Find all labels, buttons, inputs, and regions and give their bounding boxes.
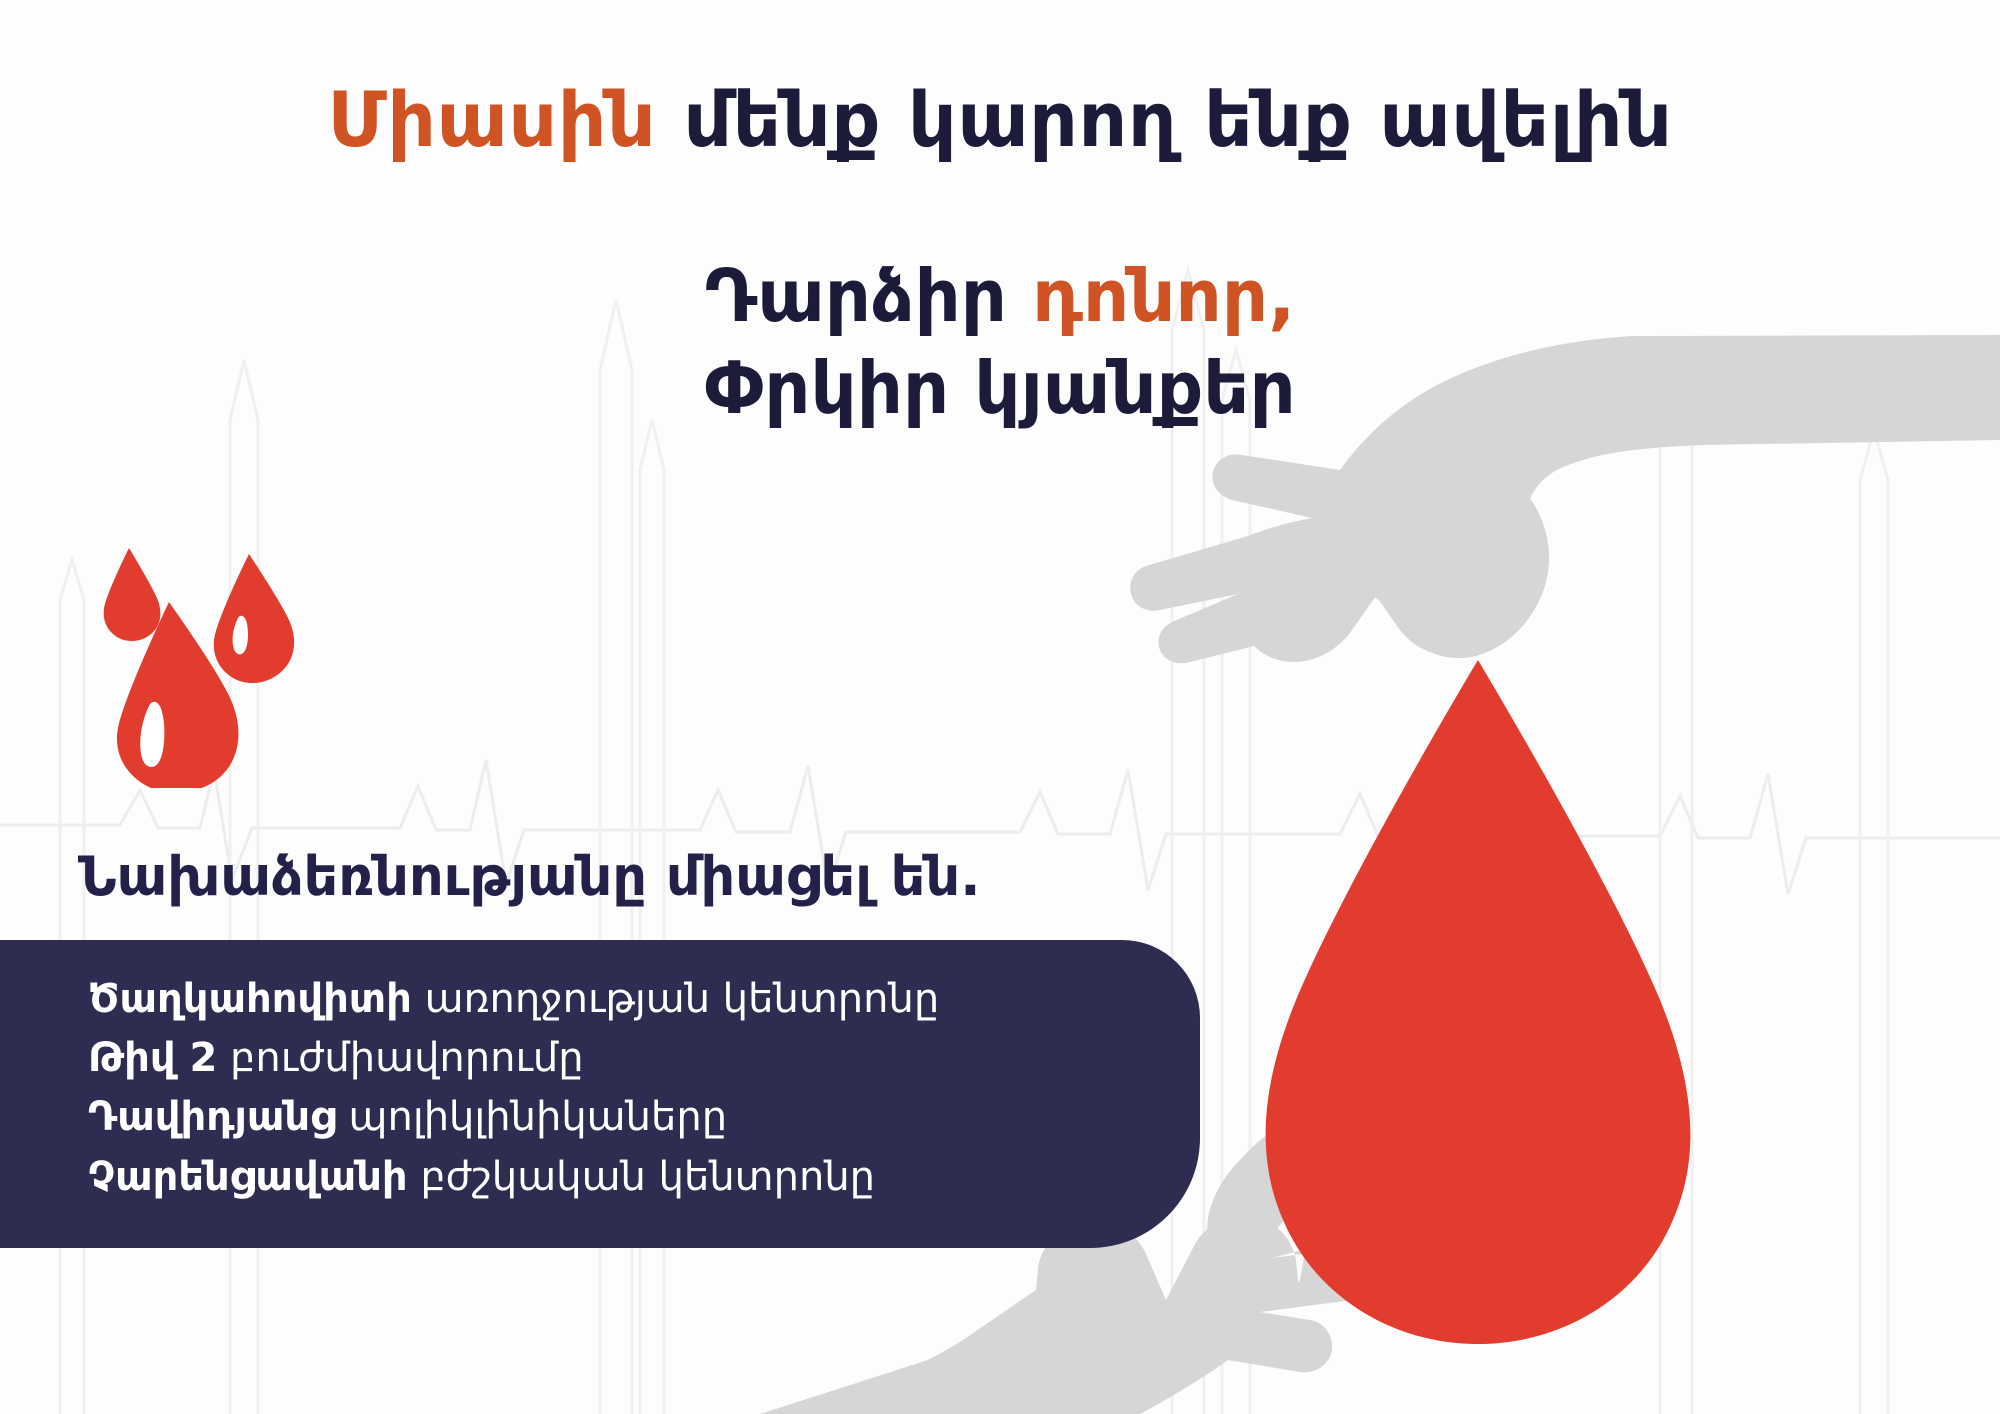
list-item-bold: Դավիդյանց bbox=[88, 1094, 336, 1140]
headline-line-2-plain: Դարձիր bbox=[705, 254, 1033, 338]
list-item: Չարենցավանի բժշկական կենտրոնը bbox=[88, 1148, 1148, 1207]
list-item-rest: բուժմիավորումը bbox=[217, 1035, 583, 1081]
headline-line-2-accent: դոնոր, bbox=[1032, 254, 1295, 338]
blood-drop-small bbox=[104, 548, 161, 641]
blood-drop-medium bbox=[214, 554, 294, 683]
headline-block: Միասին մենք կարող ենք ավելին bbox=[0, 76, 2000, 163]
blood-drop-cluster bbox=[95, 548, 315, 788]
list-item-bold: Թիվ 2 bbox=[88, 1035, 217, 1081]
headline-line-3: Փրկիր կյանքեր bbox=[0, 342, 2000, 434]
poster-canvas: Միասին մենք կարող ենք ավելին Դարձիր դոնո… bbox=[0, 0, 2000, 1414]
list-item: Թիվ 2 բուժմիավորումը bbox=[88, 1029, 1148, 1088]
list-item-rest: բժշկական կենտրոնը bbox=[408, 1154, 875, 1200]
list-item: Դավիդյանց պոլիկլինիկաները bbox=[88, 1088, 1148, 1147]
list-item-bold: Ծաղկահովիտի bbox=[88, 976, 412, 1022]
list-item-bold: Չարենցավանի bbox=[88, 1154, 408, 1200]
headline-line-2: Դարձիր դոնոր, bbox=[0, 250, 2000, 342]
subtitle-text: Նախաձեռնությանը միացել են. bbox=[78, 845, 981, 908]
headline-line-1-rest: մենք կարող ենք ավելին bbox=[656, 75, 1672, 164]
list-item: Ծաղկահովիտի առողջության կենտրոնը bbox=[88, 970, 1148, 1029]
blood-drop-large bbox=[1266, 660, 1691, 1344]
headline-accent-word: Միասին bbox=[327, 75, 656, 164]
headline-line-1: Միասին մենք կարող ենք ավելին bbox=[0, 76, 2000, 163]
list-item-rest: պոլիկլինիկաները bbox=[336, 1094, 727, 1140]
participants-list: Ծաղկահովիտի առողջության կենտրոնը Թիվ 2 բ… bbox=[88, 970, 1148, 1207]
participants-panel: Ծաղկահովիտի առողջության կենտրոնը Թիվ 2 բ… bbox=[0, 940, 1200, 1248]
list-item-rest: առողջության կենտրոնը bbox=[412, 976, 939, 1022]
headline-block-2: Դարձիր դոնոր, Փրկիր կյանքեր bbox=[0, 250, 2000, 434]
